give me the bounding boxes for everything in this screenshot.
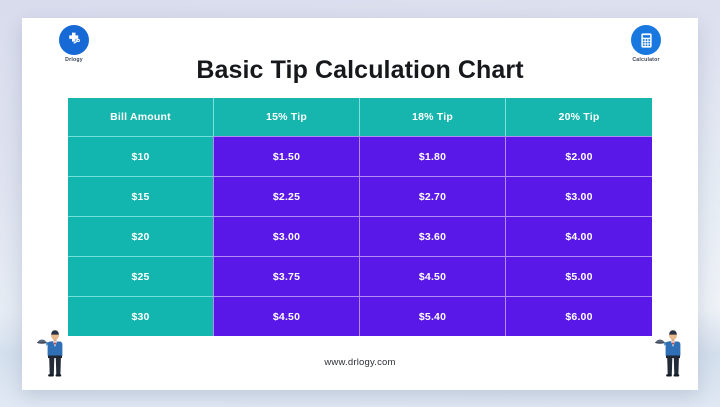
cell-tip-15: $3.75 <box>214 256 360 296</box>
column-header-bill-amount: Bill Amount <box>68 98 214 136</box>
table-header: Bill Amount 15% Tip 18% Tip 20% Tip <box>68 98 652 136</box>
footer-website-url[interactable]: www.drlogy.com <box>22 357 698 368</box>
cell-bill-amount: $30 <box>68 296 214 336</box>
cell-tip-15: $3.00 <box>214 216 360 256</box>
tip-table-container: Bill Amount 15% Tip 18% Tip 20% Tip $10 … <box>68 98 652 336</box>
chart-card: Drlogy Calculator Basic Tip Calculation … <box>22 18 698 390</box>
page-title: Basic Tip Calculation Chart <box>22 56 698 85</box>
table-body: $10 $1.50 $1.80 $2.00 $15 $2.25 $2.70 $3… <box>68 136 652 336</box>
cell-tip-15: $2.25 <box>214 176 360 216</box>
tip-calculation-table: Bill Amount 15% Tip 18% Tip 20% Tip $10 … <box>68 98 652 336</box>
column-header-18-tip: 18% Tip <box>360 98 506 136</box>
cell-tip-15: $4.50 <box>214 296 360 336</box>
waiter-with-tray-illustration-right <box>652 326 686 378</box>
cell-bill-amount: $15 <box>68 176 214 216</box>
table-row: $10 $1.50 $1.80 $2.00 <box>68 136 652 176</box>
cell-tip-18: $1.80 <box>360 136 506 176</box>
table-header-row: Bill Amount 15% Tip 18% Tip 20% Tip <box>68 98 652 136</box>
cell-tip-20: $6.00 <box>506 296 652 336</box>
calculator-icon <box>631 25 661 55</box>
column-header-20-tip: 20% Tip <box>506 98 652 136</box>
table-row: $15 $2.25 $2.70 $3.00 <box>68 176 652 216</box>
medical-cross-logo-icon <box>59 25 89 55</box>
column-header-15-tip: 15% Tip <box>214 98 360 136</box>
cell-bill-amount: $25 <box>68 256 214 296</box>
cell-tip-18: $5.40 <box>360 296 506 336</box>
cell-tip-20: $4.00 <box>506 216 652 256</box>
cell-tip-18: $3.60 <box>360 216 506 256</box>
cell-tip-20: $5.00 <box>506 256 652 296</box>
cell-tip-20: $3.00 <box>506 176 652 216</box>
cell-tip-18: $2.70 <box>360 176 506 216</box>
table-row: $20 $3.00 $3.60 $4.00 <box>68 216 652 256</box>
cell-tip-15: $1.50 <box>214 136 360 176</box>
cell-bill-amount: $20 <box>68 216 214 256</box>
table-row: $30 $4.50 $5.40 $6.00 <box>68 296 652 336</box>
cell-tip-18: $4.50 <box>360 256 506 296</box>
table-row: $25 $3.75 $4.50 $5.00 <box>68 256 652 296</box>
waiter-with-tray-illustration-left <box>34 326 68 378</box>
cell-bill-amount: $10 <box>68 136 214 176</box>
cell-tip-20: $2.00 <box>506 136 652 176</box>
